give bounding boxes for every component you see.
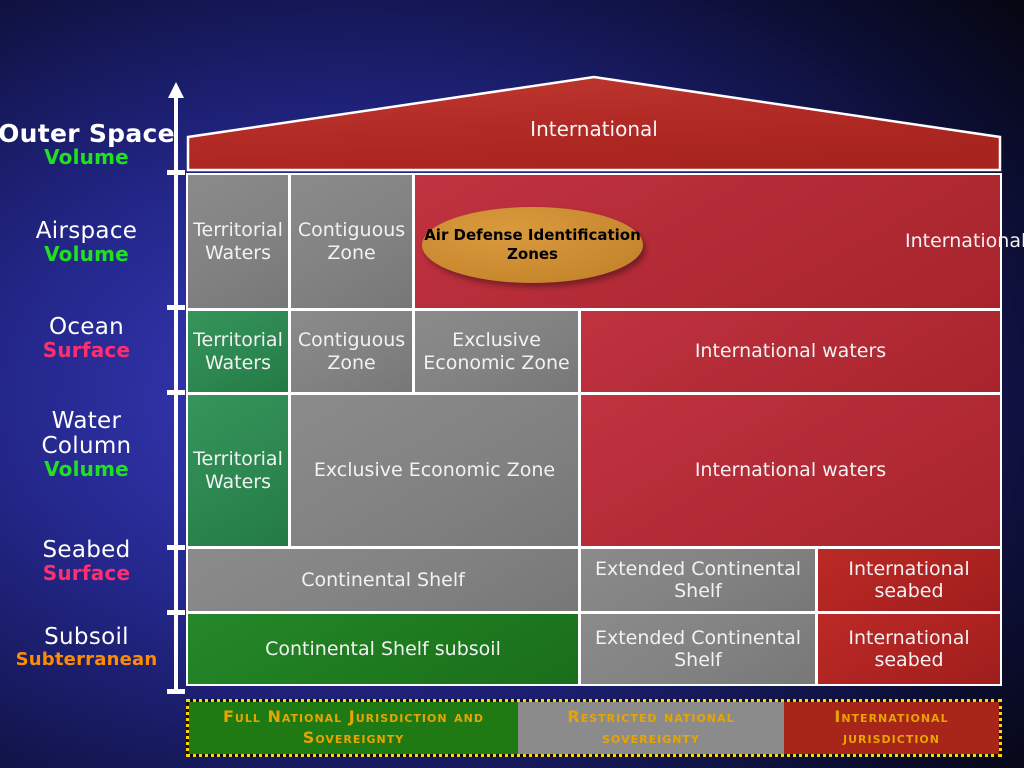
cell-label: International waters — [695, 340, 886, 362]
cell-label: Exclusive Economic Zone — [419, 329, 574, 374]
layer-name: Water — [0, 409, 179, 434]
cell-label: International — [905, 230, 1024, 252]
cell-label: Extended Continental Shelf — [585, 627, 811, 672]
layer-label-ocean: Ocean Surface — [0, 315, 179, 361]
layer-name: Seabed — [0, 538, 179, 563]
air-defense-identification-zones-bubble: Air Defense Identification Zones — [422, 207, 643, 283]
water-column-territorial-waters: Territorial Waters — [186, 393, 290, 548]
legend-label: International jurisdiction — [790, 707, 993, 749]
axis-tick-airspace — [167, 170, 185, 175]
layer-name: Outer Space — [0, 120, 179, 147]
layer-label-water-column: Water Column Volume — [0, 409, 179, 480]
legend-item-full-national-jurisdiction: Full National Jurisdiction and Sovereign… — [189, 702, 518, 754]
legend-item-restricted-national-sovereignty: Restricted national sovereignty — [518, 702, 784, 754]
layer-name: Airspace — [0, 219, 179, 244]
layer-kind: Surface — [0, 340, 179, 362]
layer-kind: Volume — [0, 244, 179, 266]
cell-label: Continental Shelf — [301, 569, 465, 591]
cell-label: Continental Shelf subsoil — [265, 638, 501, 660]
diagram-canvas: Outer Space Volume Airspace Volume Ocean… — [0, 0, 1024, 768]
cell-label: International seabed — [822, 627, 996, 672]
layer-kind: Surface — [0, 563, 179, 585]
cell-label: Exclusive Economic Zone — [314, 459, 555, 481]
layer-kind: Subterranean — [0, 650, 179, 669]
legend-label: Restricted national sovereignty — [524, 707, 778, 749]
seabed-continental-shelf: Continental Shelf — [186, 547, 580, 613]
ocean-international-waters: International waters — [579, 309, 1002, 394]
axis-tick-bottom — [167, 689, 185, 694]
layer-name: Ocean — [0, 315, 179, 340]
vertical-layer-axis — [168, 82, 184, 694]
layer-kind: Volume — [0, 459, 179, 481]
water-column-international-waters: International waters — [579, 393, 1002, 548]
cell-label: International waters — [695, 459, 886, 481]
legend-label: Full National Jurisdiction and Sovereign… — [195, 707, 512, 749]
cell-label: Territorial Waters — [192, 448, 284, 493]
layer-label-subsoil: Subsoil Subterranean — [0, 625, 179, 669]
subsoil-international-seabed: International seabed — [816, 612, 1002, 686]
subsoil-continental-shelf-subsoil: Continental Shelf subsoil — [186, 612, 580, 686]
layer-name: Subsoil — [0, 625, 179, 650]
layer-label-seabed: Seabed Surface — [0, 538, 179, 584]
cell-label: International seabed — [822, 558, 996, 603]
water-column-exclusive-economic-zone: Exclusive Economic Zone — [289, 393, 580, 548]
layer-kind: Volume — [0, 147, 179, 169]
adiz-label: Air Defense Identification Zones — [422, 226, 643, 264]
seabed-international-seabed: International seabed — [816, 547, 1002, 613]
ocean-contiguous-zone: Contiguous Zone — [289, 309, 414, 394]
ocean-territorial-waters: Territorial Waters — [186, 309, 290, 394]
cell-label: Territorial Waters — [192, 219, 284, 264]
layer-label-outer-space: Outer Space Volume — [0, 120, 179, 169]
cell-label: Contiguous Zone — [295, 329, 408, 374]
axis-tick-subsoil — [167, 610, 185, 615]
axis-tick-water-column — [167, 390, 185, 395]
layer-label-airspace: Airspace Volume — [0, 219, 179, 265]
legend-item-international-jurisdiction: International jurisdiction — [784, 702, 999, 754]
airspace-contiguous-zone: Contiguous Zone — [289, 173, 414, 310]
axis-tick-ocean — [167, 305, 185, 310]
airspace-territorial-waters: Territorial Waters — [186, 173, 290, 310]
layer-name-2: Column — [0, 434, 179, 459]
seabed-extended-continental-shelf: Extended Continental Shelf — [579, 547, 817, 613]
cell-label: Territorial Waters — [192, 329, 284, 374]
ocean-exclusive-economic-zone: Exclusive Economic Zone — [413, 309, 580, 394]
row-outer-space-international: International — [186, 75, 1002, 172]
jurisdiction-legend: Full National Jurisdiction and Sovereign… — [186, 699, 1002, 757]
subsoil-extended-continental-shelf: Extended Continental Shelf — [579, 612, 817, 686]
cell-label: Contiguous Zone — [295, 219, 408, 264]
cell-label: Extended Continental Shelf — [585, 558, 811, 603]
